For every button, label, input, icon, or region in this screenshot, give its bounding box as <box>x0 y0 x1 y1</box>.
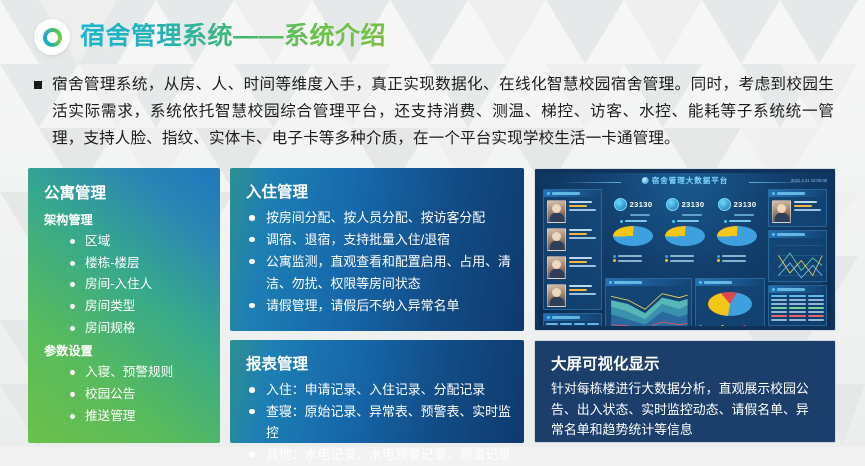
pie-chart <box>665 226 705 252</box>
square-bullet-icon <box>34 81 42 89</box>
card-apartment-management[interactable]: 公寓管理 架构管理 区域 楼栋-楼层 房间-入住人 房间类型 房间规格 参数设置… <box>28 168 220 443</box>
kpi-value: 23130 <box>734 200 757 209</box>
card-grid: 公寓管理 架构管理 区域 楼栋-楼层 房间-入住人 房间类型 房间规格 参数设置… <box>0 168 865 444</box>
list-item[interactable]: 推送管理 <box>70 406 206 428</box>
list-item[interactable]: 房间类型 <box>70 296 206 318</box>
panel-header <box>769 190 826 197</box>
panel-leave-table[interactable] <box>768 285 827 326</box>
pie-unit <box>607 219 659 263</box>
dashboard-title: 宿舍管理大数据平台 <box>642 175 729 186</box>
list-item[interactable]: 房间规格 <box>70 318 206 340</box>
pie-chart <box>717 226 757 252</box>
kpi-card: 23130 <box>718 194 757 216</box>
panel-header <box>606 279 691 286</box>
page-title: 宿舍管理系统——系统介绍 <box>80 23 386 51</box>
panel-header <box>544 190 601 197</box>
list-item[interactable]: 区域 <box>70 231 206 253</box>
dashboard-timestamp: 2021.4.21 12:00:06 <box>791 178 827 183</box>
pie-unit <box>659 219 711 263</box>
table-row <box>771 303 824 305</box>
card-apartment-group1-list: 区域 楼栋-楼层 房间-入住人 房间类型 房间规格 <box>44 231 206 339</box>
list-item[interactable]: 按房间分配、按人员分配、按访客分配 <box>246 208 511 229</box>
dashboard-right-column <box>768 189 827 324</box>
panel-area-chart[interactable] <box>605 278 692 326</box>
card-checkin-management[interactable]: 入住管理 按房间分配、按人员分配、按访客分配 调宿、退宿，支持批量入住/退宿 公… <box>230 168 524 331</box>
table <box>544 321 601 326</box>
intro-text: 宿舍管理系统，从房、人、时间等维度入手，真正实现数据化、在线化智慧校园宿舍管理。… <box>52 72 834 152</box>
card-bigscreen-display[interactable]: 大屏可视化显示 针对每栋楼进行大数据分析，直观展示校园公告、出入状态、实时监控动… <box>534 340 836 443</box>
list-item[interactable]: 请假管理，请假后不纳入异常名单 <box>246 296 511 317</box>
panel-header <box>769 231 826 238</box>
list-item[interactable]: 房间-入住人 <box>70 274 206 296</box>
avatar <box>547 200 566 223</box>
panel-header <box>544 314 601 321</box>
avatar <box>547 228 566 251</box>
card-apartment-group2-title: 参数设置 <box>44 341 206 359</box>
table-row <box>771 315 824 317</box>
panel-recent-entries[interactable] <box>543 189 602 310</box>
panel-person-detail[interactable] <box>768 189 827 227</box>
pie-unit <box>711 219 763 263</box>
pie-chart <box>708 292 752 322</box>
pie-chart <box>613 226 653 252</box>
kpi-row: 23130 23130 23130 <box>605 189 765 218</box>
card-bigscreen-body: 针对每栋楼进行大数据分析，直观展示校园公告、出入状态、实时监控动态、请假名单、异… <box>551 379 821 441</box>
kpi-card: 23130 <box>666 194 705 216</box>
bed-icon <box>718 198 731 211</box>
table-row <box>771 307 824 309</box>
panel-line-chart[interactable] <box>768 230 827 282</box>
panel-pie-chart[interactable] <box>695 278 765 326</box>
panel-header <box>769 286 826 293</box>
card-report-management[interactable]: 报表管理 入住：申请记录、入住记录、分配记录 查寝：原始记录、异常表、预警表、实… <box>230 340 524 443</box>
list-item[interactable]: 入住：申请记录、入住记录、分配记录 <box>246 380 511 401</box>
table-row <box>771 295 824 297</box>
list-item <box>544 225 601 253</box>
kpi-card: 23130 <box>614 194 653 216</box>
area-chart <box>606 286 691 326</box>
intro-paragraph: 宿舍管理系统，从房、人、时间等维度入手，真正实现数据化、在线化智慧校园宿舍管理。… <box>34 72 834 152</box>
list-item[interactable]: 调宿、退宿，支持批量入住/退宿 <box>246 230 511 251</box>
person-icon <box>614 198 627 211</box>
dashboard-header: 宿舍管理大数据平台 2021.4.21 12:00:06 <box>539 173 831 189</box>
dashboard-left-column <box>543 189 602 324</box>
dashboard-body: 23130 23130 23130 <box>539 189 831 324</box>
card-report-list: 入住：申请记录、入住记录、分配记录 查寝：原始记录、异常表、预警表、实时监控 其… <box>246 380 511 466</box>
list-item <box>544 281 601 309</box>
card-checkin-title: 入住管理 <box>246 180 511 202</box>
list-item <box>544 253 601 281</box>
card-apartment-group1-title: 架构管理 <box>44 210 206 228</box>
list-item <box>544 197 601 225</box>
list-item[interactable]: 查寝：原始记录、异常表、预警表、实时监控 <box>246 402 511 444</box>
avatar <box>547 284 566 307</box>
table-row <box>546 323 599 325</box>
card-apartment-title: 公寓管理 <box>44 181 206 203</box>
globe-icon <box>642 177 649 184</box>
list-item[interactable]: 校园公告 <box>70 384 206 406</box>
card-dashboard-preview[interactable]: 宿舍管理大数据平台 2021.4.21 12:00:06 <box>534 168 836 331</box>
dashboard-mock: 宿舍管理大数据平台 2021.4.21 12:00:06 <box>539 173 831 326</box>
list-item[interactable]: 楼栋-楼层 <box>70 253 206 275</box>
avatar <box>772 200 791 223</box>
table-row <box>771 299 824 301</box>
panel-header <box>696 279 764 286</box>
table <box>769 293 826 325</box>
pie-legend <box>696 322 764 326</box>
card-report-title: 报表管理 <box>246 352 511 374</box>
list-item <box>769 197 826 225</box>
slide-root: 宿舍管理系统——系统介绍 宿舍管理系统，从房、人、时间等维度入手，真正实现数据化… <box>0 0 865 447</box>
dashboard-center-column: 23130 23130 23130 <box>605 189 765 324</box>
panel-abnormal-table[interactable] <box>543 313 602 326</box>
list-item[interactable]: 入寝、预警规则 <box>70 362 206 384</box>
avatar <box>547 256 566 279</box>
kpi-value: 23130 <box>682 200 705 209</box>
panel-statistics[interactable]: 23130 23130 23130 <box>605 189 765 275</box>
list-item[interactable]: 公寓监测，直观查看和配置启用、占用、清 <box>246 252 511 273</box>
card-checkin-list: 按房间分配、按人员分配、按访客分配 调宿、退宿，支持批量入住/退宿 公寓监测，直… <box>246 208 511 317</box>
line-chart <box>769 238 826 288</box>
kpi-value: 23130 <box>630 200 653 209</box>
table-row <box>771 311 824 313</box>
circle-ring-icon <box>34 19 70 55</box>
card-bigscreen-title: 大屏可视化显示 <box>551 352 821 374</box>
list-item-continuation: 洁、勿扰、权限等房间状态 <box>246 274 511 295</box>
list-item[interactable]: 其他：水电记录、水电预警记录、测温记录 <box>246 445 511 466</box>
table-row <box>771 319 824 321</box>
building-icon <box>666 198 679 211</box>
pie-row <box>605 218 765 263</box>
slide-header: 宿舍管理系统——系统介绍 <box>34 19 386 55</box>
card-apartment-group2-list: 入寝、预警规则 校园公告 推送管理 <box>44 362 206 427</box>
